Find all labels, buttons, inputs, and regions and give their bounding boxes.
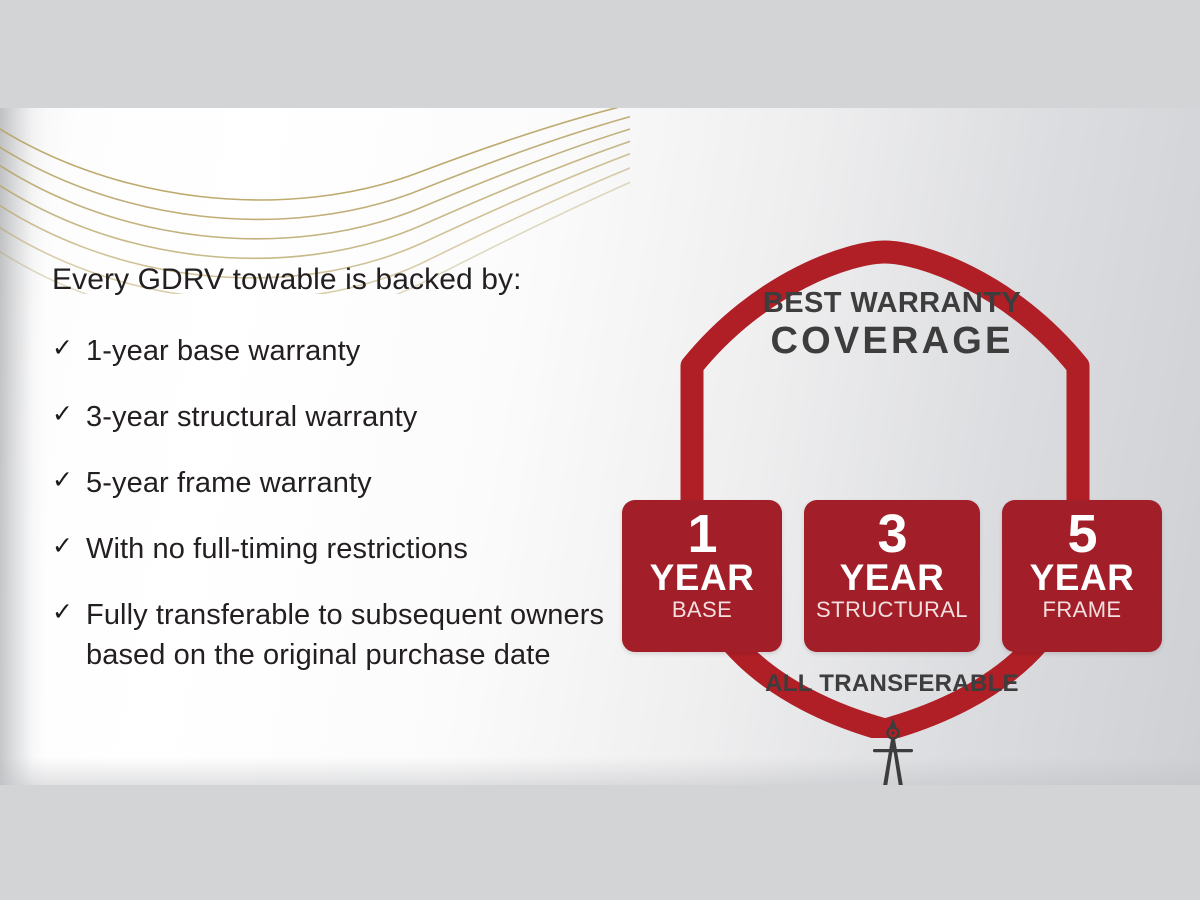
coverage-unit: YEAR (650, 561, 755, 595)
coverage-card-structural: 3 YEAR STRUCTURAL (804, 500, 980, 652)
checkmark-icon: ✓ (52, 331, 86, 365)
drafting-compass-icon (867, 716, 919, 785)
copy-column: Every GDRV towable is backed by: ✓ 1-yea… (52, 263, 652, 675)
list-item: ✓ 1-year base warranty (52, 331, 652, 371)
warranty-badge: BEST WARRANTY COVERAGE 1 YEAR BASE 3 YEA… (612, 238, 1172, 758)
list-item-label: 5-year frame warranty (86, 463, 372, 503)
coverage-years: 5 (1067, 508, 1096, 560)
coverage-years: 1 (687, 508, 716, 560)
list-item: ✓ 3-year structural warranty (52, 397, 652, 437)
list-item: ✓ Fully transferable to subsequent owner… (52, 595, 652, 675)
bottom-edge-shading (0, 757, 1200, 785)
coverage-card-frame: 5 YEAR FRAME (1002, 500, 1162, 652)
list-item-label: Fully transferable to subsequent owners … (86, 595, 652, 675)
badge-footer-label: ALL TRANSFERABLE (612, 670, 1172, 698)
list-item-label: 1-year base warranty (86, 331, 360, 371)
left-edge-shading (0, 108, 46, 785)
list-item-label: With no full-timing restrictions (86, 529, 468, 569)
checkmark-icon: ✓ (52, 397, 86, 431)
coverage-years: 3 (877, 508, 906, 560)
coverage-unit: YEAR (840, 561, 945, 595)
coverage-card-base: 1 YEAR BASE (622, 500, 782, 652)
coverage-unit: YEAR (1030, 561, 1135, 595)
list-item: ✓ 5-year frame warranty (52, 463, 652, 503)
checkmark-icon: ✓ (52, 463, 86, 497)
list-item: ✓ With no full-timing restrictions (52, 529, 652, 569)
checkmark-icon: ✓ (52, 529, 86, 563)
checkmark-icon: ✓ (52, 595, 86, 629)
warranty-banner: Every GDRV towable is backed by: ✓ 1-yea… (0, 108, 1200, 785)
coverage-card-group: 1 YEAR BASE 3 YEAR STRUCTURAL 5 YEAR FRA… (612, 500, 1172, 652)
shield-icon (670, 238, 1100, 738)
screenshot-stage: Every GDRV towable is backed by: ✓ 1-yea… (0, 0, 1200, 900)
coverage-type: STRUCTURAL (816, 597, 968, 623)
coverage-type: BASE (672, 597, 732, 623)
benefit-list: ✓ 1-year base warranty ✓ 3-year structur… (52, 331, 652, 675)
coverage-type: FRAME (1043, 597, 1122, 623)
list-item-label: 3-year structural warranty (86, 397, 417, 437)
page-title: Every GDRV towable is backed by: (52, 263, 652, 297)
